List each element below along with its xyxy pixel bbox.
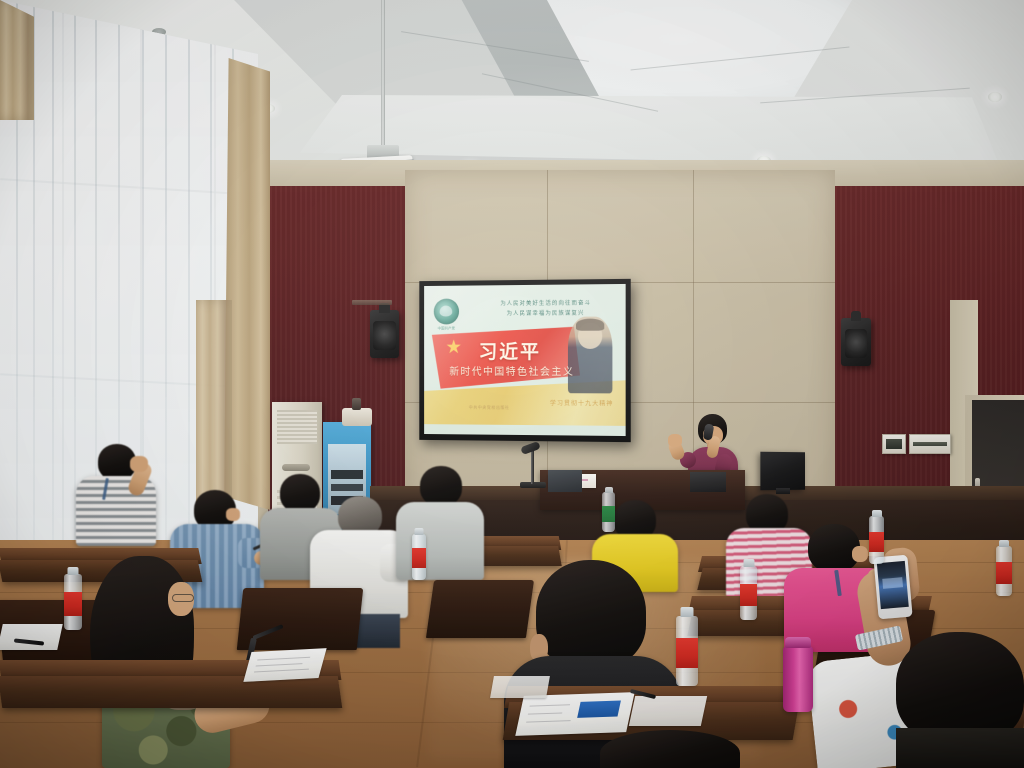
attendee-ear [852,546,868,562]
stage-equipment-box [548,470,582,492]
attendee-torso [396,502,484,580]
wall-vent-slot [352,300,392,305]
wall-plaque-right [909,434,951,454]
bottled-water[interactable] [996,546,1012,596]
downlight [988,92,1002,102]
white-smartphone[interactable] [873,555,912,620]
bottled-water[interactable] [869,516,884,564]
attendee-head [536,560,646,668]
projected-slide: 中国共产党 为人民对美好生活的向往而奋斗 为人民谋幸福为民族谋复兴 ★ 习近平 … [424,284,626,436]
slide-title: 习近平 [479,337,541,364]
handout-papers [490,676,550,698]
conference-room-photo: 中国共产党 为人民对美好生活的向往而奋斗 为人民谋幸福为民族谋复兴 ★ 习近平 … [0,0,1024,768]
bottled-water[interactable] [740,566,757,620]
drape-inner[interactable] [196,300,232,514]
handout-papers [629,696,707,726]
attendee-light-gray [396,466,494,582]
attendee-hand [130,456,148,472]
pink-thermos[interactable] [783,646,813,712]
bottled-water[interactable] [412,534,426,580]
presenter-fist [668,434,682,447]
left-wall-speaker [370,310,399,358]
projector-mount-pole [381,0,385,150]
attendee-ear [226,508,240,521]
desktop-item-on-cabinet [342,408,372,426]
slide-subtitle: 新时代中国特色社会主义 [449,363,574,378]
handout-papers [0,624,63,650]
attendee-head [420,466,462,506]
presenter-laptop[interactable] [690,472,726,492]
attendee-head [600,730,740,768]
attendee-striped-polo [70,444,170,554]
slide-star-icon: ★ [445,337,466,359]
handout-papers [243,648,326,682]
slide-header-line-2: 为人民谋幸福为民族谋复兴 [445,308,625,317]
drape-left-edge[interactable] [0,0,34,120]
bottled-water[interactable] [602,492,615,532]
right-wall-speaker [841,318,871,366]
attendee-bottom-head [600,730,740,768]
desk-foreground-left-front [0,676,342,708]
slide-header-line-1: 为人民对美好生活的向往而奋斗 [445,298,625,308]
phone-camera-viewfinder[interactable] [877,561,909,609]
projection-screen: 中国共产党 为人民对美好生活的向往而奋斗 为人民谋幸福为民族谋复兴 ★ 习近平 … [419,279,630,442]
presenter-monitor[interactable] [760,452,805,491]
slide-credit-text: 中共中央党校出版社 [469,405,510,411]
attendee-foreground-right [896,632,1024,768]
attendee-torso [896,728,1024,768]
bottled-water[interactable] [676,616,698,686]
wall-plaque-left [882,434,906,454]
small-device [352,398,361,410]
microphone-stand-pole [531,450,534,484]
slide-portrait [568,316,612,393]
bottled-water[interactable] [64,574,82,630]
eyeglasses-icon [172,594,194,602]
slide-footer-text: 学习贯彻十九大精神 [550,398,614,407]
